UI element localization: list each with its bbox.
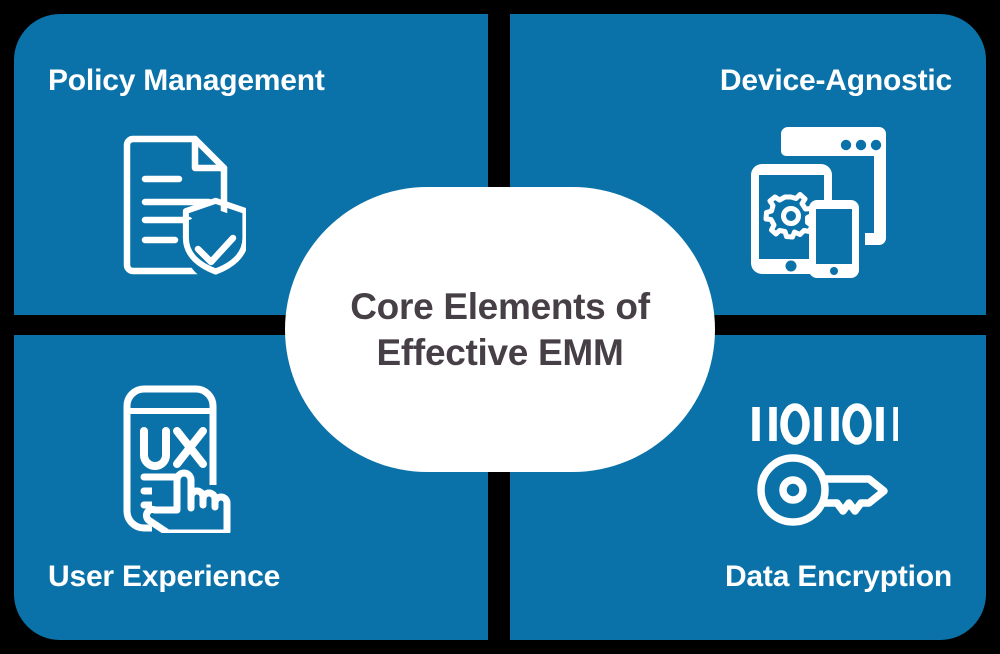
document-shield-icon xyxy=(118,132,246,283)
quadrant-label-user-experience: User Experience xyxy=(48,562,280,592)
quadrant-label-data-encryption: Data Encryption xyxy=(725,562,952,592)
binary-key-icon xyxy=(748,403,898,536)
quadrant-label-device-agnostic: Device-Agnostic xyxy=(720,66,952,96)
phone-ux-hand-icon xyxy=(122,385,240,538)
quadrant-label-policy-management: Policy Management xyxy=(48,66,325,96)
infographic-canvas: Policy Management Device-Agnostic xyxy=(0,0,1000,654)
page-title: Core Elements of Effective EMM xyxy=(350,284,650,374)
center-callout: Core Elements of Effective EMM xyxy=(285,187,715,472)
multi-device-gear-icon xyxy=(747,126,892,286)
